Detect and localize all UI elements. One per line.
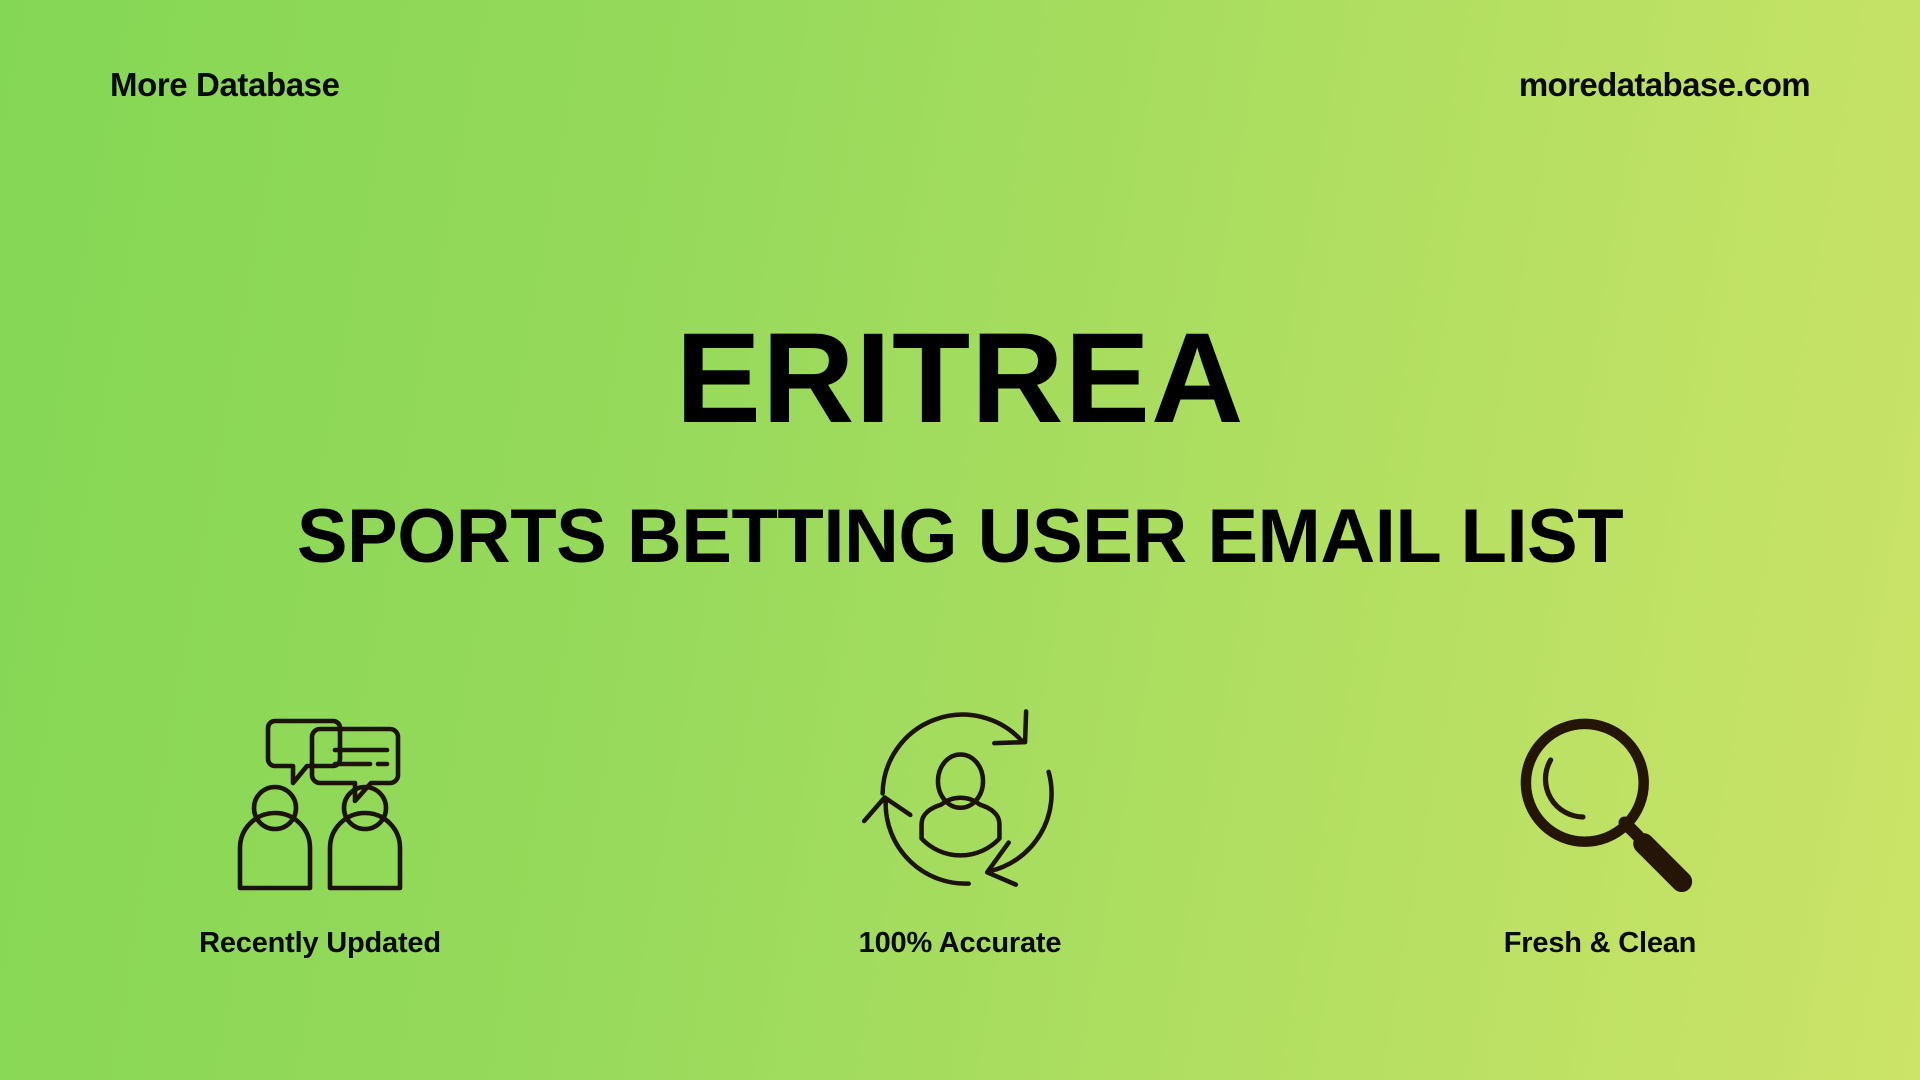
feature-item-recently-updated: Recently Updated bbox=[0, 690, 640, 960]
hero-titles: ERITREA SPORTS BETTING USER EMAIL LIST bbox=[0, 315, 1920, 575]
people-chat-icon bbox=[220, 690, 420, 905]
magnifier-search-icon bbox=[1505, 690, 1695, 905]
feature-item-fresh-clean: Fresh & Clean bbox=[1280, 690, 1920, 960]
website-url: moredatabase.com bbox=[1519, 66, 1810, 104]
banner-header: More Database moredatabase.com bbox=[0, 0, 1920, 170]
promo-banner: More Database moredatabase.com ERITREA S… bbox=[0, 0, 1920, 1080]
list-subtitle: SPORTS BETTING USER EMAIL LIST bbox=[0, 499, 1920, 575]
country-title: ERITREA bbox=[0, 315, 1920, 443]
user-refresh-cycle-icon bbox=[858, 690, 1063, 905]
feature-list: Recently Updated bbox=[0, 690, 1920, 960]
feature-label-fresh-clean: Fresh & Clean bbox=[1504, 927, 1696, 960]
feature-label-recently-updated: Recently Updated bbox=[199, 927, 441, 960]
feature-item-accurate: 100% Accurate bbox=[640, 690, 1280, 960]
feature-label-accurate: 100% Accurate bbox=[859, 927, 1062, 960]
brand-name: More Database bbox=[110, 66, 340, 104]
